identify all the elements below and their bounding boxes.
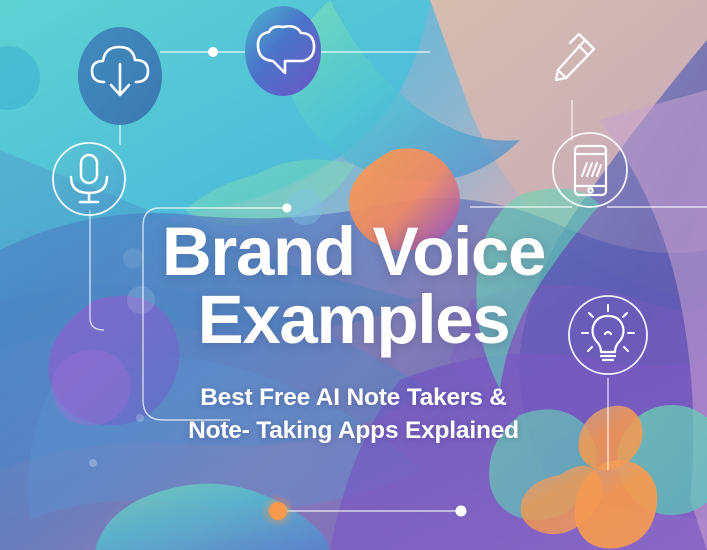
icon-layer bbox=[0, 0, 707, 550]
microphone-icon[interactable] bbox=[53, 143, 125, 215]
mobile-phone-icon[interactable] bbox=[553, 133, 627, 207]
lightbulb-icon[interactable] bbox=[569, 296, 647, 374]
poster-canvas: Brand Voice Examples Best Free AI Note T… bbox=[0, 0, 707, 550]
pencil-icon[interactable] bbox=[556, 34, 594, 80]
cloud-download-icon[interactable] bbox=[78, 27, 162, 125]
speech-bubble-icon[interactable] bbox=[245, 6, 321, 96]
